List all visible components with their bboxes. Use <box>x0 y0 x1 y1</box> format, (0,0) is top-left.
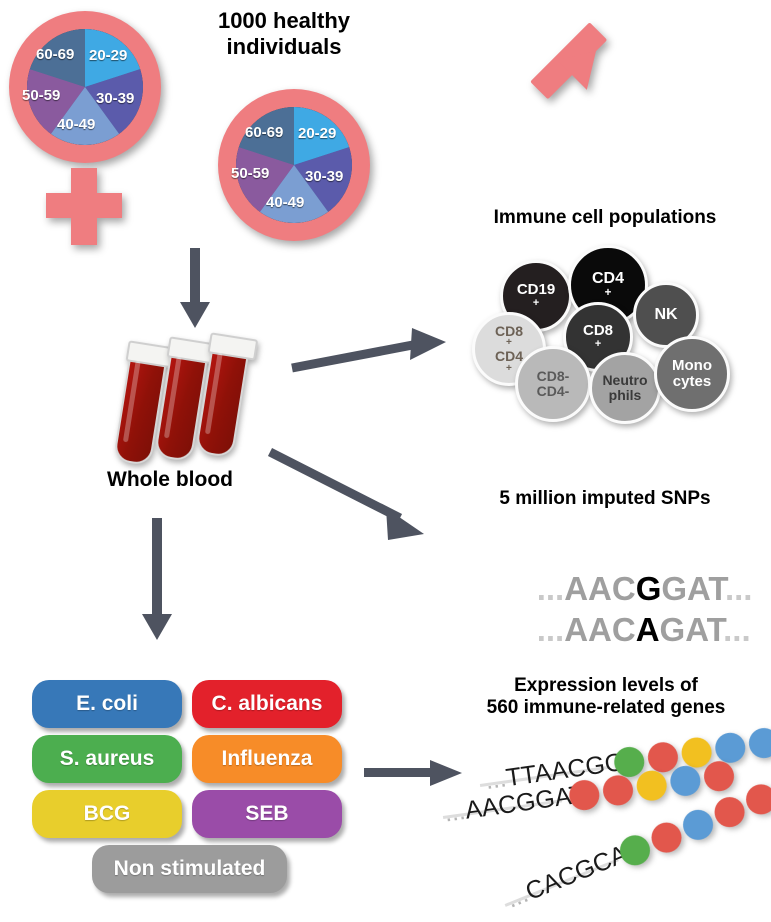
stimulus-label: BCG <box>84 802 131 826</box>
male-symbol: 20-29 30-39 40-49 50-59 60-69 <box>210 20 420 250</box>
expression-section-title: Expression levels of 560 immune-related … <box>450 675 762 720</box>
stimulus-label: S. aureus <box>60 747 155 771</box>
expression-bead <box>668 764 702 798</box>
expression-bead <box>647 818 686 857</box>
stimulus-s-aureus[interactable]: S. aureus <box>32 735 182 783</box>
snp-suffix: ... <box>723 611 751 648</box>
stimulus-non-stimulated[interactable]: Non stimulated <box>92 845 287 893</box>
snp-sequence-row: ...AACAGAT... <box>500 573 751 687</box>
tube-highlight <box>123 361 141 443</box>
stimulus-label: SEB <box>245 802 288 826</box>
stimulus-influenza[interactable]: Influenza <box>192 735 342 783</box>
age-label-40-49: 40-49 <box>57 116 95 133</box>
cell-label-sup1: + <box>583 339 613 350</box>
snp-prefix: ... <box>537 611 565 648</box>
snp-left: AAC <box>564 611 636 648</box>
cell-label-line1: CD4 <box>592 271 624 288</box>
cell-label-line1: NK <box>654 307 677 324</box>
whole-blood-label: Whole blood <box>60 468 280 493</box>
cell-label-line1: Neutro <box>602 373 647 388</box>
expression-title-line-1: Expression levels of <box>450 675 762 697</box>
stimulus-label: E. coli <box>76 692 138 716</box>
cell-label-line2: CD4- <box>537 384 570 399</box>
age-label-50-59: 50-59 <box>231 165 269 182</box>
cell-monocytes: Mono cytes <box>654 336 730 412</box>
age-label-40-49: 40-49 <box>266 194 304 211</box>
stimulus-label: Non stimulated <box>114 857 266 881</box>
cell-label-line1: CD8 <box>583 323 613 339</box>
female-symbol: 20-29 30-39 40-49 50-59 60-69 <box>0 0 180 250</box>
age-label-60-69: 60-69 <box>245 124 283 141</box>
expression-bead <box>742 780 771 819</box>
stimulus-seb[interactable]: SEB <box>192 790 342 838</box>
age-label-20-29: 20-29 <box>89 47 127 64</box>
tube-highlight <box>164 357 182 439</box>
age-label-60-69: 60-69 <box>36 46 74 63</box>
cell-label-line1: CD8 <box>495 324 523 339</box>
stimulus-bcg[interactable]: BCG <box>32 790 182 838</box>
snps-section-title: 5 million imputed SNPs <box>455 488 755 510</box>
age-label-20-29: 20-29 <box>298 125 336 142</box>
age-label-30-39: 30-39 <box>96 90 134 107</box>
arrow-blood-to-stimuli <box>140 518 178 642</box>
expression-bead <box>635 769 669 803</box>
stimulus-label: C. albicans <box>212 692 323 716</box>
immune-cell-cluster: CD19+ CD4+ NK CD8+ CD8+ CD4+ CD8- CD4- <box>455 240 755 420</box>
stimulus-label: Influenza <box>221 747 312 771</box>
cell-cd8-cd4-double-negative: CD8- CD4- <box>515 346 591 422</box>
female-stem-crossbar <box>46 193 122 218</box>
stimulation-panel: E. coli C. albicans S. aureus Influenza … <box>30 680 350 900</box>
cell-label-line2: CD4 <box>495 349 523 364</box>
expression-bead <box>710 793 749 832</box>
cell-label-line1: CD8- <box>537 369 570 384</box>
snp-right: GAT <box>660 611 724 648</box>
cell-label-line2: cytes <box>672 374 712 390</box>
expression-bead <box>747 726 771 760</box>
stimulus-c-albicans[interactable]: C. albicans <box>192 680 342 728</box>
figure-canvas: 1000 healthy individuals 20-29 30-39 40-… <box>0 0 771 922</box>
expression-title-line-2: 560 immune-related genes <box>450 697 762 719</box>
arrow-blood-to-immune <box>290 326 450 376</box>
arrow-stimuli-to-expression <box>364 756 464 790</box>
cell-label-line2: phils <box>602 388 647 403</box>
expression-bead <box>702 759 736 793</box>
cell-label-sup1: + <box>592 287 624 299</box>
expression-bead <box>679 805 718 844</box>
stimulus-e-coli[interactable]: E. coli <box>32 680 182 728</box>
snp-variant-allele: A <box>636 611 660 648</box>
age-label-50-59: 50-59 <box>22 87 60 104</box>
expression-bead <box>601 773 635 807</box>
tube-highlight <box>205 353 223 435</box>
immune-section-title: Immune cell populations <box>455 207 755 229</box>
arrow-blood-to-snps <box>268 450 438 540</box>
arrow-cohort-to-blood <box>178 248 216 330</box>
age-label-30-39: 30-39 <box>305 168 343 185</box>
whole-blood-tubes <box>108 336 258 466</box>
cell-label-line1: CD19 <box>517 282 555 298</box>
tube-cap <box>208 332 259 360</box>
cell-label-sup1: + <box>517 298 555 309</box>
cell-neutrophils: Neutro phils <box>589 352 661 424</box>
cell-label-line1: Mono <box>672 358 712 374</box>
